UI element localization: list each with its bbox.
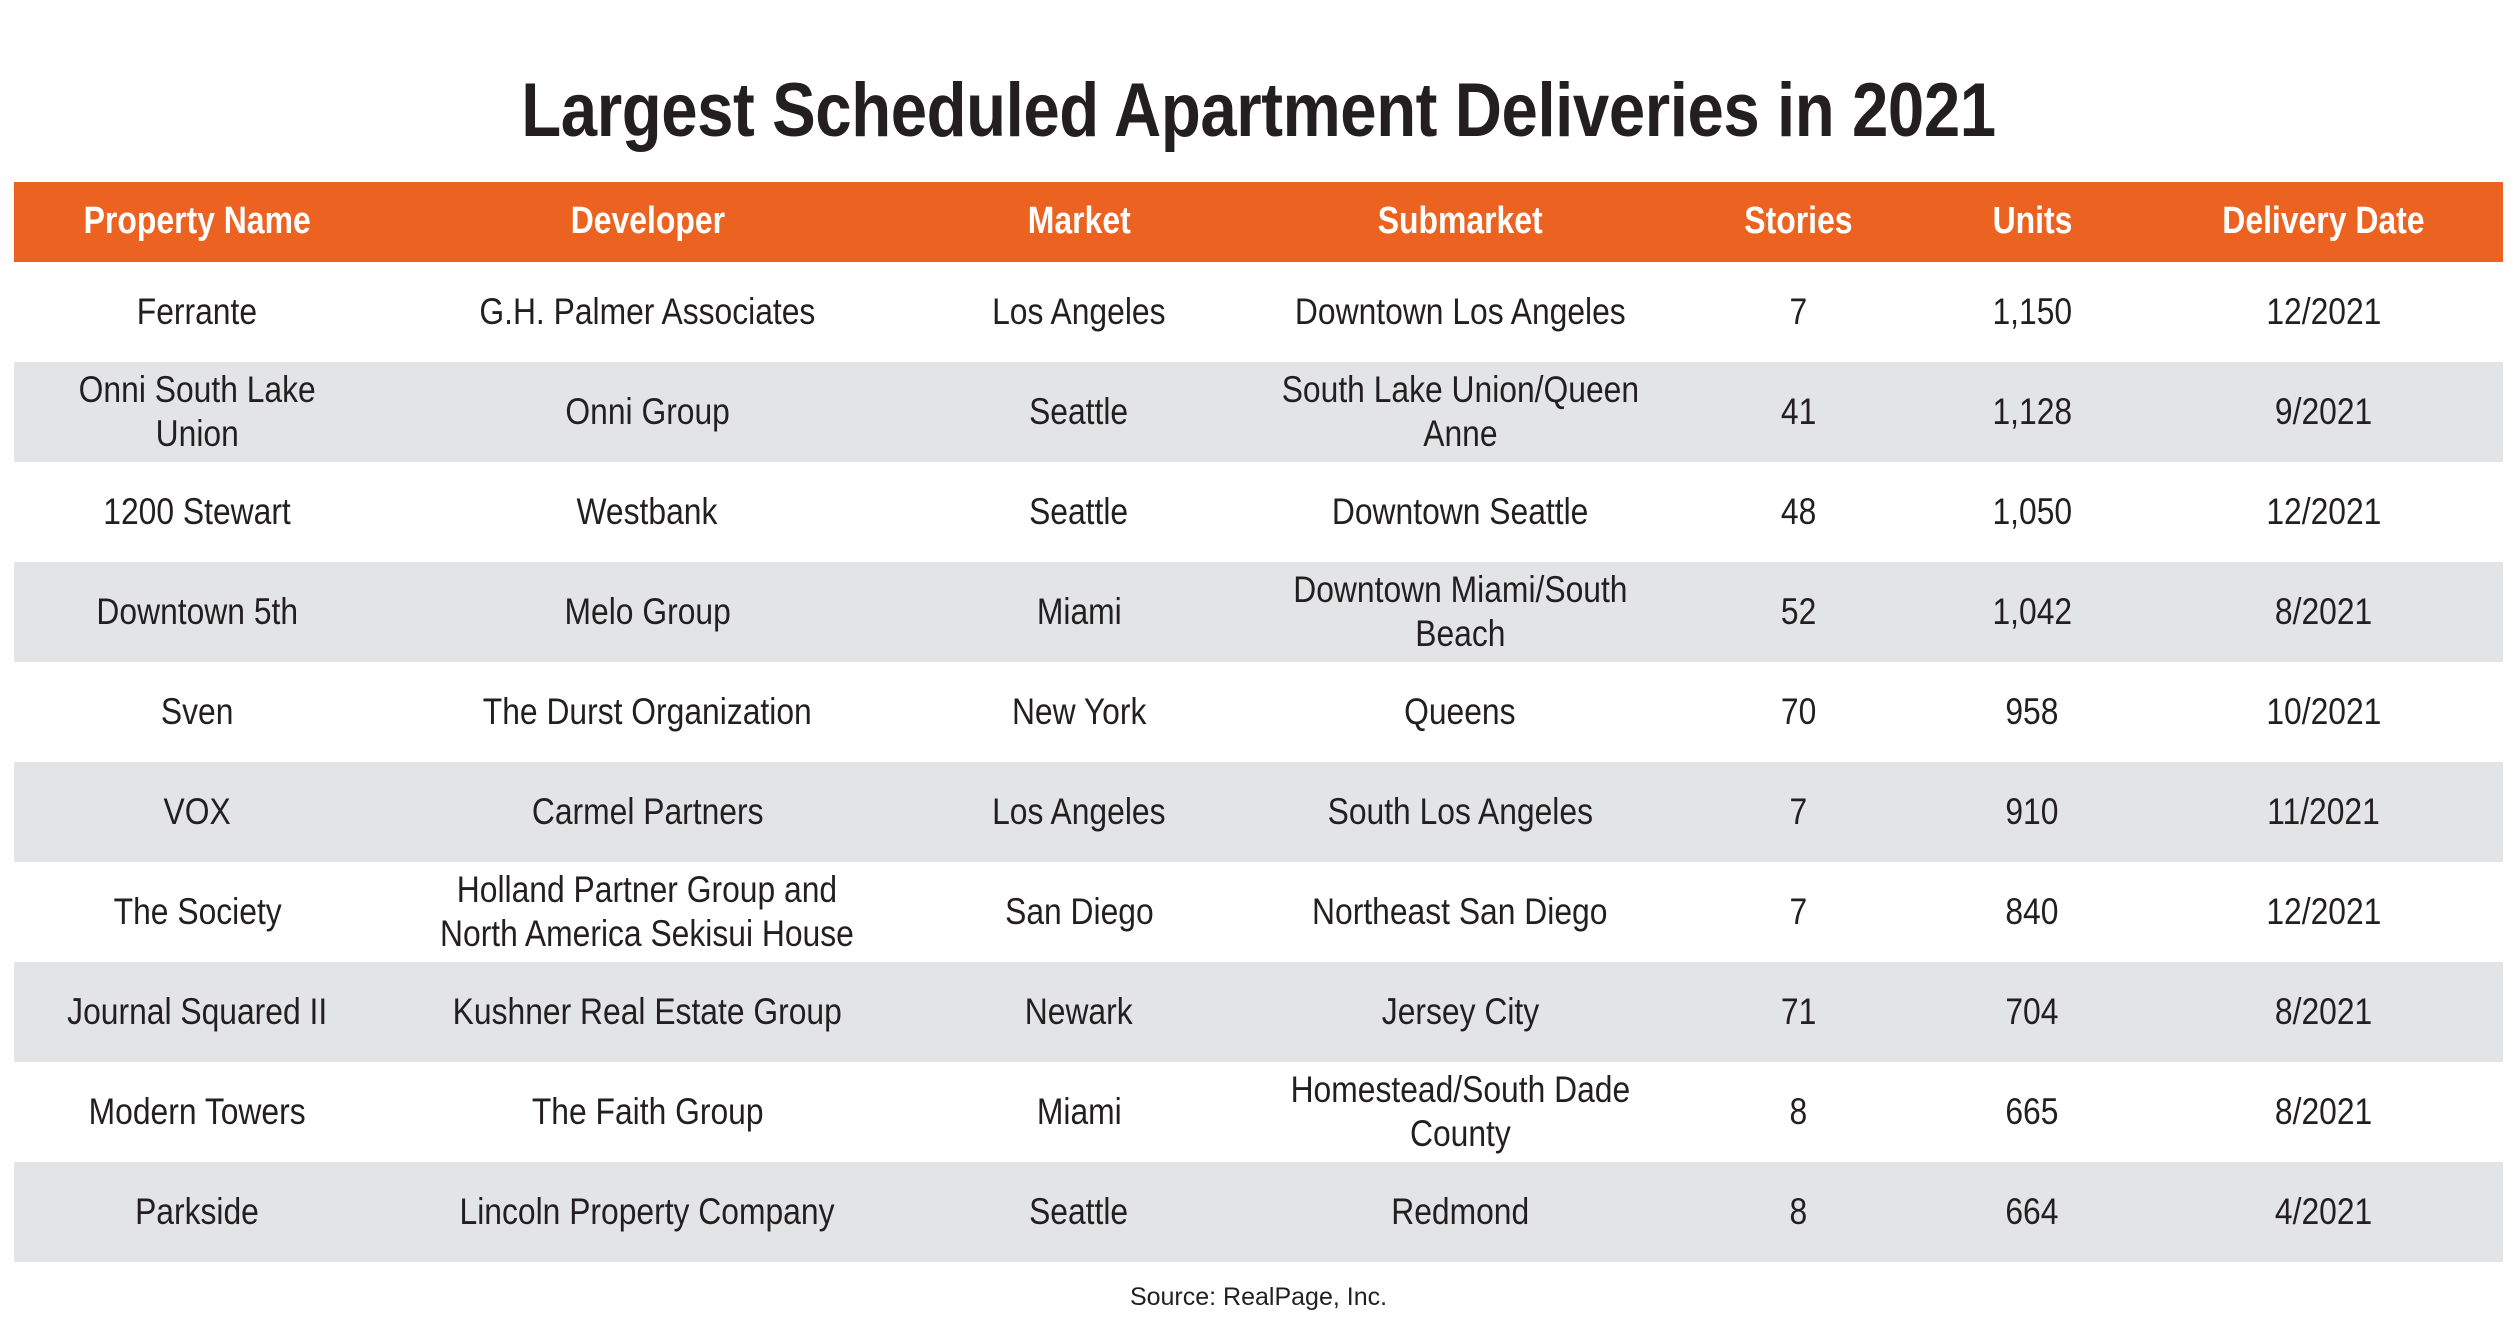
table-header: Property Name Developer Market Submarket… (14, 182, 2503, 262)
cell-text: Onni Group (565, 390, 730, 434)
table-row: The Society Holland Partner Group and No… (14, 862, 2503, 962)
cell-property-name: Downtown 5th (14, 562, 380, 662)
cell-text: Downtown Los Angeles (1295, 290, 1626, 334)
cell-submarket: Homestead/South Dade County (1244, 1062, 1677, 1162)
cell-property-name: Sven (14, 662, 380, 762)
table-row: Onni South Lake Union Onni Group Seattle… (14, 362, 2503, 462)
column-header-label: Units (1992, 202, 2072, 242)
cell-text: 12/2021 (2266, 890, 2381, 934)
cell-text: Seattle (1030, 490, 1129, 534)
cell-text: Onni South Lake Union (40, 368, 355, 455)
column-header-submarket[interactable]: Submarket (1244, 182, 1677, 262)
cell-text: Carmel Partners (532, 790, 764, 834)
column-header-label: Stories (1744, 202, 1852, 242)
cell-units: 704 (1920, 962, 2144, 1062)
cell-text: 8/2021 (2275, 990, 2372, 1034)
table-row: Downtown 5th Melo Group Miami Downtown M… (14, 562, 2503, 662)
cell-developer: Onni Group (380, 362, 914, 462)
cell-text: G.H. Palmer Associates (479, 290, 815, 334)
cell-text: 41 (1781, 390, 1816, 434)
cell-text: 7 (1789, 290, 1807, 334)
cell-text: 7 (1789, 890, 1807, 934)
infographic-table-page: Largest Scheduled Apartment Deliveries i… (0, 51, 2517, 1331)
cell-property-name: Modern Towers (14, 1062, 380, 1162)
cell-delivery-date: 11/2021 (2144, 762, 2503, 862)
cell-stories: 71 (1677, 962, 1921, 1062)
cell-market: San Diego (914, 862, 1243, 962)
cell-delivery-date: 12/2021 (2144, 262, 2503, 362)
cell-text: 840 (2006, 890, 2059, 934)
column-header-label: Market (1028, 202, 1131, 242)
cell-text: Downtown 5th (96, 590, 298, 634)
cell-text: 12/2021 (2266, 490, 2381, 534)
cell-text: Newark (1025, 990, 1133, 1034)
cell-units: 910 (1920, 762, 2144, 862)
cell-stories: 52 (1677, 562, 1921, 662)
column-header-label: Submarket (1378, 202, 1543, 242)
cell-developer: The Faith Group (380, 1062, 914, 1162)
cell-text: The Society (113, 890, 281, 934)
cell-stories: 8 (1677, 1062, 1921, 1162)
cell-text: VOX (164, 790, 231, 834)
cell-delivery-date: 8/2021 (2144, 962, 2503, 1062)
cell-delivery-date: 12/2021 (2144, 462, 2503, 562)
cell-stories: 7 (1677, 762, 1921, 862)
cell-stories: 7 (1677, 862, 1921, 962)
cell-delivery-date: 9/2021 (2144, 362, 2503, 462)
cell-units: 1,150 (1920, 262, 2144, 362)
deliveries-table-container: Property Name Developer Market Submarket… (14, 182, 2503, 1262)
cell-developer: Holland Partner Group and North America … (380, 862, 914, 962)
page-title: Largest Scheduled Apartment Deliveries i… (176, 51, 2341, 163)
cell-text: 664 (2006, 1190, 2059, 1234)
cell-text: Ferrante (137, 290, 257, 334)
cell-text: Journal Squared II (67, 990, 327, 1034)
cell-text: 665 (2006, 1090, 2059, 1134)
cell-market: Miami (914, 1062, 1243, 1162)
table-row: Journal Squared II Kushner Real Estate G… (14, 962, 2503, 1062)
cell-units: 664 (1920, 1162, 2144, 1262)
cell-submarket: Northeast San Diego (1244, 862, 1677, 962)
cell-text: Los Angeles (992, 290, 1165, 334)
cell-text: Sven (161, 690, 234, 734)
cell-text: 704 (2006, 990, 2059, 1034)
cell-delivery-date: 10/2021 (2144, 662, 2503, 762)
cell-text: Redmond (1391, 1190, 1529, 1234)
cell-property-name: Journal Squared II (14, 962, 380, 1062)
column-header-stories[interactable]: Stories (1677, 182, 1921, 262)
cell-market: Seattle (914, 362, 1243, 462)
cell-units: 1,042 (1920, 562, 2144, 662)
cell-developer: Westbank (380, 462, 914, 562)
cell-text: 71 (1781, 990, 1816, 1034)
cell-units: 958 (1920, 662, 2144, 762)
column-header-developer[interactable]: Developer (380, 182, 914, 262)
cell-developer: Carmel Partners (380, 762, 914, 862)
cell-stories: 41 (1677, 362, 1921, 462)
cell-text: 8/2021 (2275, 590, 2372, 634)
cell-text: Downtown Seattle (1332, 490, 1588, 534)
cell-market: Los Angeles (914, 262, 1243, 362)
cell-stories: 7 (1677, 262, 1921, 362)
cell-text: Miami (1037, 1090, 1122, 1134)
cell-property-name: The Society (14, 862, 380, 962)
cell-submarket: Redmond (1244, 1162, 1677, 1262)
cell-text: 910 (2006, 790, 2059, 834)
cell-units: 1,050 (1920, 462, 2144, 562)
cell-submarket: South Los Angeles (1244, 762, 1677, 862)
cell-text: 52 (1781, 590, 1816, 634)
cell-delivery-date: 4/2021 (2144, 1162, 2503, 1262)
cell-text: Queens (1404, 690, 1515, 734)
cell-developer: G.H. Palmer Associates (380, 262, 914, 362)
cell-text: New York (1012, 690, 1146, 734)
cell-text: 8 (1789, 1190, 1807, 1234)
table-body: Ferrante G.H. Palmer Associates Los Ange… (14, 262, 2503, 1262)
cell-units: 665 (1920, 1062, 2144, 1162)
cell-text: Kushner Real Estate Group (453, 990, 842, 1034)
cell-market: New York (914, 662, 1243, 762)
table-row: Ferrante G.H. Palmer Associates Los Ange… (14, 262, 2503, 362)
table-row: Sven The Durst Organization New York Que… (14, 662, 2503, 762)
cell-submarket: Downtown Seattle (1244, 462, 1677, 562)
table-row: Modern Towers The Faith Group Miami Home… (14, 1062, 2503, 1162)
cell-text: Miami (1037, 590, 1122, 634)
cell-units: 840 (1920, 862, 2144, 962)
cell-text: Northeast San Diego (1312, 890, 1607, 934)
cell-stories: 8 (1677, 1162, 1921, 1262)
source-note: Source: RealPage, Inc. (0, 1283, 2517, 1312)
cell-text: 10/2021 (2266, 690, 2381, 734)
cell-text: 1,128 (1992, 390, 2072, 434)
column-header-market[interactable]: Market (914, 182, 1243, 262)
cell-text: 4/2021 (2275, 1190, 2372, 1234)
cell-text: 9/2021 (2275, 390, 2372, 434)
cell-text: Melo Group (564, 590, 730, 634)
cell-text: Downtown Miami/South Beach (1274, 568, 1646, 655)
cell-text: 1200 Stewart (103, 490, 291, 534)
cell-text: Homestead/South Dade County (1274, 1068, 1646, 1155)
cell-text: 11/2021 (2267, 790, 2380, 834)
cell-market: Seattle (914, 1162, 1243, 1262)
column-header-units[interactable]: Units (1920, 182, 2144, 262)
cell-text: Westbank (577, 490, 718, 534)
table-row: Parkside Lincoln Property Company Seattl… (14, 1162, 2503, 1262)
cell-market: Miami (914, 562, 1243, 662)
table-header-row: Property Name Developer Market Submarket… (14, 182, 2503, 262)
cell-text: South Los Angeles (1327, 790, 1592, 834)
cell-text: 70 (1781, 690, 1816, 734)
cell-property-name: VOX (14, 762, 380, 862)
cell-text: Parkside (135, 1190, 259, 1234)
cell-developer: The Durst Organization (380, 662, 914, 762)
cell-text: 12/2021 (2266, 290, 2381, 334)
cell-stories: 70 (1677, 662, 1921, 762)
cell-delivery-date: 8/2021 (2144, 562, 2503, 662)
cell-text: Lincoln Property Company (460, 1190, 835, 1234)
cell-text: Jersey City (1381, 990, 1538, 1034)
cell-text: Modern Towers (89, 1090, 306, 1134)
cell-text: Seattle (1030, 1190, 1129, 1234)
cell-text: The Durst Organization (483, 690, 812, 734)
table-row: VOX Carmel Partners Los Angeles South Lo… (14, 762, 2503, 862)
cell-text: 7 (1789, 790, 1807, 834)
cell-text: 958 (2006, 690, 2059, 734)
cell-market: Los Angeles (914, 762, 1243, 862)
cell-submarket: Downtown Miami/South Beach (1244, 562, 1677, 662)
column-header-label: Delivery Date (2222, 202, 2424, 242)
column-header-delivery-date[interactable]: Delivery Date (2144, 182, 2503, 262)
cell-text: 1,150 (1992, 290, 2072, 334)
column-header-property-name[interactable]: Property Name (14, 182, 380, 262)
cell-developer: Melo Group (380, 562, 914, 662)
cell-property-name: Ferrante (14, 262, 380, 362)
cell-submarket: Jersey City (1244, 962, 1677, 1062)
cell-units: 1,128 (1920, 362, 2144, 462)
cell-submarket: South Lake Union/Queen Anne (1244, 362, 1677, 462)
cell-text: San Diego (1005, 890, 1154, 934)
cell-text: 1,050 (1992, 490, 2072, 534)
cell-text: Seattle (1030, 390, 1129, 434)
cell-delivery-date: 12/2021 (2144, 862, 2503, 962)
table-row: 1200 Stewart Westbank Seattle Downtown S… (14, 462, 2503, 562)
cell-property-name: Parkside (14, 1162, 380, 1262)
cell-developer: Kushner Real Estate Group (380, 962, 914, 1062)
cell-market: Newark (914, 962, 1243, 1062)
cell-stories: 48 (1677, 462, 1921, 562)
cell-text: South Lake Union/Queen Anne (1274, 368, 1646, 455)
cell-text: The Faith Group (532, 1090, 764, 1134)
cell-delivery-date: 8/2021 (2144, 1062, 2503, 1162)
cell-text: 48 (1781, 490, 1816, 534)
column-header-label: Developer (570, 202, 724, 242)
cell-developer: Lincoln Property Company (380, 1162, 914, 1262)
cell-property-name: 1200 Stewart (14, 462, 380, 562)
cell-text: 8 (1789, 1090, 1807, 1134)
column-header-label: Property Name (84, 202, 311, 242)
cell-text: 1,042 (1992, 590, 2072, 634)
cell-text: 8/2021 (2275, 1090, 2372, 1134)
cell-submarket: Queens (1244, 662, 1677, 762)
cell-market: Seattle (914, 462, 1243, 562)
cell-property-name: Onni South Lake Union (14, 362, 380, 462)
cell-text: Holland Partner Group and North America … (418, 868, 877, 955)
cell-text: Los Angeles (992, 790, 1165, 834)
cell-submarket: Downtown Los Angeles (1244, 262, 1677, 362)
deliveries-table: Property Name Developer Market Submarket… (14, 182, 2503, 1262)
